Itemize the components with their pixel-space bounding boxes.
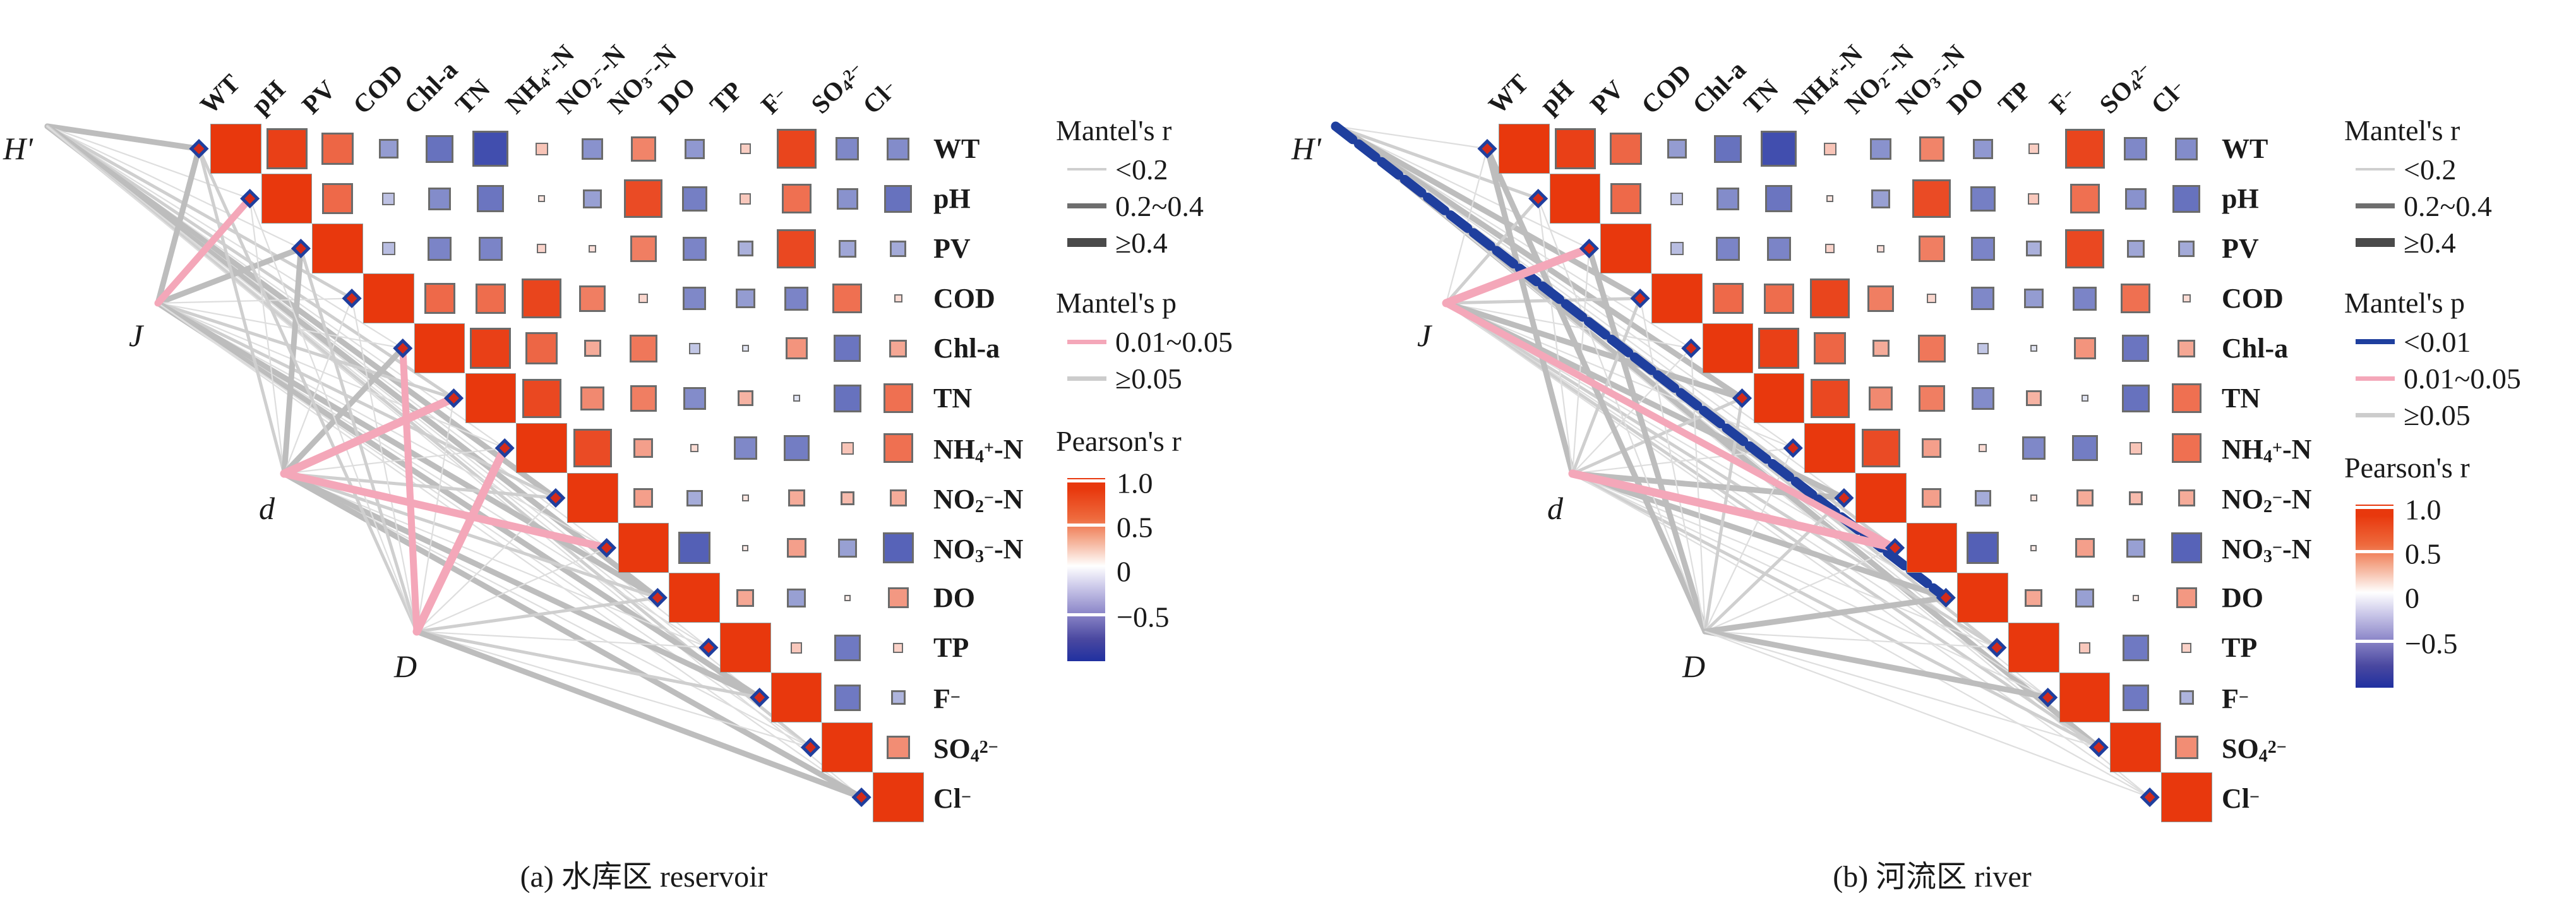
matrix-cell-WT-NH4+-N[interactable] bbox=[516, 124, 567, 174]
matrix-cell-F--F-[interactable] bbox=[2059, 673, 2111, 722]
matrix-cell-NO2--N-DO[interactable] bbox=[1957, 473, 2008, 523]
cell-glyph bbox=[2073, 287, 2097, 311]
cell-glyph bbox=[1977, 343, 1989, 354]
matrix-cell-DO-Cl-[interactable] bbox=[873, 573, 924, 623]
matrix-cell-TN-TN[interactable] bbox=[1754, 373, 1805, 423]
matrix-cell-PV-TN[interactable] bbox=[1754, 224, 1805, 273]
matrix-cell-Chl-a-F-[interactable] bbox=[2059, 323, 2111, 373]
variable-anchor-WT[interactable] bbox=[1477, 139, 1497, 159]
cell-glyph bbox=[2110, 722, 2161, 772]
matrix-cell-COD-Chl-a[interactable] bbox=[414, 273, 465, 323]
matrix-cell-NO3--N-F-[interactable] bbox=[2059, 523, 2111, 573]
matrix-cell-WT-WT[interactable] bbox=[1499, 124, 1550, 174]
line-swatch-gray bbox=[1067, 376, 1106, 381]
matrix-cell-COD-TP[interactable] bbox=[2008, 273, 2059, 323]
matrix-cell-TP-F-[interactable] bbox=[2059, 623, 2111, 673]
matrix-cell-pH-Cl-[interactable] bbox=[873, 174, 924, 224]
matrix-cell-NO3--N-SO42-[interactable] bbox=[2110, 523, 2161, 573]
network-node-label-evenness: J bbox=[1417, 317, 1431, 354]
matrix-cell-PV-NO3--N[interactable] bbox=[1907, 224, 1958, 273]
cell-glyph bbox=[1918, 335, 1946, 362]
matrix-cell-WT-TP[interactable] bbox=[2008, 124, 2059, 174]
matrix-cell-pH-PV[interactable] bbox=[1600, 174, 1651, 224]
matrix-cell-pH-COD[interactable] bbox=[1651, 174, 1703, 224]
matrix-cell-COD-NH4+-N[interactable] bbox=[516, 273, 567, 323]
cell-glyph bbox=[624, 179, 662, 218]
matrix-cell-SO42--SO42-[interactable] bbox=[822, 722, 873, 772]
caption-a: (a) 水库区 reservoir bbox=[0, 851, 1288, 895]
cell-glyph bbox=[2026, 241, 2042, 256]
matrix-cell-COD-Chl-a[interactable] bbox=[1703, 273, 1754, 323]
row-label-DO: DO bbox=[2222, 573, 2263, 623]
matrix-row bbox=[1499, 523, 2212, 573]
matrix-cell-COD-TN[interactable] bbox=[1754, 273, 1805, 323]
matrix-cell-pH-Cl-[interactable] bbox=[2161, 174, 2212, 224]
matrix-cell-NO3--N-TP[interactable] bbox=[720, 523, 771, 573]
cell-glyph bbox=[579, 285, 606, 312]
matrix-cell-PV-SO42-[interactable] bbox=[822, 224, 873, 273]
row-label-SO42-: SO42− bbox=[2222, 722, 2287, 772]
correlation-matrix-a bbox=[210, 124, 924, 822]
matrix-cell-PV-PV[interactable] bbox=[1600, 224, 1651, 273]
cell-glyph bbox=[822, 722, 873, 772]
mantel-p-title-a: Mantel's p bbox=[1056, 286, 1290, 320]
matrix-cell-TN-SO42-[interactable] bbox=[822, 373, 873, 423]
matrix-cell-PV-PV[interactable] bbox=[312, 224, 363, 273]
matrix-cell-PV-DO[interactable] bbox=[1957, 224, 2008, 273]
matrix-cell-TN-F-[interactable] bbox=[2059, 373, 2111, 423]
matrix-cell-Chl-a-Cl-[interactable] bbox=[873, 323, 924, 373]
matrix-cell-DO-TP[interactable] bbox=[720, 573, 771, 623]
matrix-cell-DO-F-[interactable] bbox=[2059, 573, 2111, 623]
matrix-cell-pH-NH4+-N[interactable] bbox=[1804, 174, 1855, 224]
matrix-cell-SO42--Cl-[interactable] bbox=[2161, 722, 2212, 772]
matrix-cell-WT-NO3--N[interactable] bbox=[618, 124, 669, 174]
matrix-cell-PV-Cl-[interactable] bbox=[873, 224, 924, 273]
matrix-cell-pH-DO[interactable] bbox=[669, 174, 720, 224]
mantel-p-legend-b: Mantel's p <0.01 0.01~0.05 ≥0.05 bbox=[2344, 286, 2576, 433]
matrix-cell-pH-F-[interactable] bbox=[771, 174, 822, 224]
matrix-cell-SO42--SO42-[interactable] bbox=[2110, 722, 2161, 772]
matrix-cell-TN-Cl-[interactable] bbox=[2161, 373, 2212, 423]
matrix-cell-pH-TP[interactable] bbox=[2008, 174, 2059, 224]
matrix-cell-WT-PV[interactable] bbox=[312, 124, 363, 174]
matrix-cell-COD-NO2--N[interactable] bbox=[1855, 273, 1907, 323]
cell-glyph bbox=[682, 186, 707, 212]
matrix-cell-NO2--N-DO[interactable] bbox=[669, 473, 720, 523]
mantel-r-item-0: <0.2 bbox=[2344, 151, 2576, 188]
matrix-cell-NH4+-N-NO3--N[interactable] bbox=[1907, 423, 1958, 473]
legend-a: Mantel's r <0.2 0.2~0.4 ≥0.4 Mantel's p … bbox=[1056, 114, 1290, 670]
matrix-cell-WT-pH[interactable] bbox=[261, 124, 313, 174]
matrix-cell-NO3--N-DO[interactable] bbox=[669, 523, 720, 573]
matrix-cell-PV-TP[interactable] bbox=[2008, 224, 2059, 273]
cell-glyph bbox=[1600, 224, 1651, 273]
matrix-cell-NO2--N-SO42-[interactable] bbox=[822, 473, 873, 523]
matrix-cell-COD-F-[interactable] bbox=[771, 273, 822, 323]
matrix-cell-PV-Chl-a[interactable] bbox=[1703, 224, 1754, 273]
matrix-cell-Chl-a-DO[interactable] bbox=[669, 323, 720, 373]
matrix-cell-NO2--N-Cl-[interactable] bbox=[873, 473, 924, 523]
matrix-cell-DO-SO42-[interactable] bbox=[822, 573, 873, 623]
cell-glyph bbox=[1716, 188, 1739, 210]
matrix-row bbox=[210, 423, 924, 473]
matrix-cell-NH4+-N-DO[interactable] bbox=[669, 423, 720, 473]
matrix-cell-DO-DO[interactable] bbox=[669, 573, 720, 623]
column-header-F-: F− bbox=[755, 81, 794, 120]
variable-anchor-WT[interactable] bbox=[189, 139, 208, 159]
figure-root: H'JdD WTpHPVCODChl-aTNNH4+-NNO2−-NNO3−-N… bbox=[0, 0, 2576, 910]
row-label-NO2--N: NO2−-N bbox=[933, 473, 1023, 523]
matrix-cell-COD-NO3--N[interactable] bbox=[1907, 273, 1958, 323]
matrix-cell-PV-TN[interactable] bbox=[465, 224, 517, 273]
cell-glyph bbox=[836, 137, 859, 160]
matrix-cell-NH4+-N-Cl-[interactable] bbox=[2161, 423, 2212, 473]
cell-glyph bbox=[638, 294, 648, 303]
matrix-cell-PV-DO[interactable] bbox=[669, 224, 720, 273]
matrix-cell-pH-TP[interactable] bbox=[720, 174, 771, 224]
column-header-TP: TP bbox=[704, 75, 748, 120]
matrix-cell-TP-Cl-[interactable] bbox=[873, 623, 924, 673]
matrix-cell-PV-TP[interactable] bbox=[720, 224, 771, 273]
matrix-cell-Chl-a-TP[interactable] bbox=[2008, 323, 2059, 373]
matrix-cell-NH4+-N-NH4+-N[interactable] bbox=[516, 423, 567, 473]
matrix-cell-Chl-a-NO3--N[interactable] bbox=[1907, 323, 1958, 373]
matrix-cell-COD-Cl-[interactable] bbox=[873, 273, 924, 323]
matrix-cell-pH-SO42-[interactable] bbox=[2110, 174, 2161, 224]
cell-glyph bbox=[2127, 240, 2145, 258]
matrix-cell-WT-F-[interactable] bbox=[2059, 124, 2111, 174]
matrix-cell-TN-NH4+-N[interactable] bbox=[1804, 373, 1855, 423]
matrix-cell-Cl--Cl-[interactable] bbox=[873, 772, 924, 822]
matrix-cell-PV-COD[interactable] bbox=[1651, 224, 1703, 273]
matrix-cell-NO2--N-NO2--N[interactable] bbox=[1855, 473, 1907, 523]
matrix-cell-F--Cl-[interactable] bbox=[873, 673, 924, 722]
matrix-cell-COD-SO42-[interactable] bbox=[822, 273, 873, 323]
cell-glyph bbox=[210, 124, 261, 174]
matrix-cell-SO42--Cl-[interactable] bbox=[873, 722, 924, 772]
matrix-cell-F--SO42-[interactable] bbox=[822, 673, 873, 722]
cell-glyph bbox=[1922, 438, 1941, 458]
matrix-cell-WT-Chl-a[interactable] bbox=[1703, 124, 1754, 174]
matrix-cell-pH-PV[interactable] bbox=[312, 174, 363, 224]
matrix-cell-pH-DO[interactable] bbox=[1957, 174, 2008, 224]
column-headers-b: WTpHPVCODChl-aTNNH4+-NNO2−-NNO3−-NDOTPF−… bbox=[1499, 0, 2256, 124]
matrix-cell-COD-NH4+-N[interactable] bbox=[1804, 273, 1855, 323]
matrix-cell-Chl-a-NO2--N[interactable] bbox=[1855, 323, 1907, 373]
cell-glyph bbox=[771, 673, 822, 722]
matrix-cell-WT-F-[interactable] bbox=[771, 124, 822, 174]
matrix-cell-NO2--N-SO42-[interactable] bbox=[2110, 473, 2161, 523]
cb-tick-3: −0.5 bbox=[2405, 627, 2457, 661]
matrix-cell-pH-pH[interactable] bbox=[261, 174, 313, 224]
matrix-cell-Chl-a-TP[interactable] bbox=[720, 323, 771, 373]
matrix-cell-pH-Chl-a[interactable] bbox=[1703, 174, 1754, 224]
matrix-cell-WT-pH[interactable] bbox=[1550, 124, 1601, 174]
matrix-cell-TP-SO42-[interactable] bbox=[2110, 623, 2161, 673]
matrix-cell-COD-DO[interactable] bbox=[1957, 273, 2008, 323]
matrix-cell-TN-DO[interactable] bbox=[669, 373, 720, 423]
matrix-cell-pH-COD[interactable] bbox=[363, 174, 414, 224]
cell-glyph bbox=[678, 532, 710, 564]
matrix-cell-NO3--N-F-[interactable] bbox=[771, 523, 822, 573]
matrix-cell-Chl-a-NO3--N[interactable] bbox=[618, 323, 669, 373]
matrix-cell-NH4+-N-TP[interactable] bbox=[720, 423, 771, 473]
row-label-Cl-: Cl− bbox=[2222, 772, 2260, 822]
matrix-cell-pH-Chl-a[interactable] bbox=[414, 174, 465, 224]
matrix-cell-COD-NO2--N[interactable] bbox=[567, 273, 618, 323]
matrix-cell-pH-NO2--N[interactable] bbox=[567, 174, 618, 224]
matrix-cell-PV-NO2--N[interactable] bbox=[1855, 224, 1907, 273]
cell-glyph bbox=[888, 587, 909, 608]
matrix-cell-NH4+-N-F-[interactable] bbox=[2059, 423, 2111, 473]
cell-glyph bbox=[476, 284, 506, 314]
matrix-cell-pH-NO3--N[interactable] bbox=[1907, 174, 1958, 224]
cell-glyph bbox=[1811, 379, 1850, 418]
matrix-cell-TN-NH4+-N[interactable] bbox=[516, 373, 567, 423]
matrix-cell-TP-Cl-[interactable] bbox=[2161, 623, 2212, 673]
matrix-cell-WT-NO3--N[interactable] bbox=[1907, 124, 1958, 174]
matrix-cell-Chl-a-NH4+-N[interactable] bbox=[516, 323, 567, 373]
network-node-label-shannon-diversity: H' bbox=[1291, 130, 1321, 167]
matrix-cell-WT-TP[interactable] bbox=[720, 124, 771, 174]
row-label-NH4+-N: NH4+-N bbox=[933, 423, 1023, 473]
cell-glyph bbox=[1862, 429, 1900, 467]
cell-glyph bbox=[689, 343, 700, 354]
matrix-cell-TN-Cl-[interactable] bbox=[873, 373, 924, 423]
matrix-cell-Chl-a-Chl-a[interactable] bbox=[414, 323, 465, 373]
matrix-cell-DO-TP[interactable] bbox=[2008, 573, 2059, 623]
cell-glyph bbox=[1919, 136, 1944, 162]
matrix-cell-NO3--N-Cl-[interactable] bbox=[873, 523, 924, 573]
matrix-cell-NH4+-N-SO42-[interactable] bbox=[2110, 423, 2161, 473]
cell-glyph bbox=[379, 139, 398, 159]
matrix-cell-Chl-a-F-[interactable] bbox=[771, 323, 822, 373]
matrix-cell-COD-COD[interactable] bbox=[1651, 273, 1703, 323]
matrix-cell-COD-TP[interactable] bbox=[720, 273, 771, 323]
cell-glyph bbox=[894, 294, 902, 302]
cell-glyph bbox=[683, 287, 706, 310]
column-header-SO42-: SO42− bbox=[805, 55, 870, 120]
matrix-cell-pH-SO42-[interactable] bbox=[822, 174, 873, 224]
matrix-cell-PV-SO42-[interactable] bbox=[2110, 224, 2161, 273]
matrix-cell-PV-NO2--N[interactable] bbox=[567, 224, 618, 273]
cell-glyph bbox=[479, 237, 503, 261]
mantel-r-item-2: ≥0.4 bbox=[1056, 224, 1290, 261]
matrix-cell-NO2--N-TP[interactable] bbox=[2008, 473, 2059, 523]
matrix-cell-Chl-a-TN[interactable] bbox=[1754, 323, 1805, 373]
matrix-cell-WT-COD[interactable] bbox=[1651, 124, 1703, 174]
matrix-cell-NH4+-N-NH4+-N[interactable] bbox=[1804, 423, 1855, 473]
matrix-cell-TN-TP[interactable] bbox=[2008, 373, 2059, 423]
network-node-label-shannon-diversity: H' bbox=[3, 130, 33, 167]
matrix-cell-TN-DO[interactable] bbox=[1957, 373, 2008, 423]
matrix-cell-COD-SO42-[interactable] bbox=[2110, 273, 2161, 323]
matrix-cell-TP-SO42-[interactable] bbox=[822, 623, 873, 673]
matrix-cell-NH4+-N-Cl-[interactable] bbox=[873, 423, 924, 473]
matrix-cell-NO3--N-NO3--N[interactable] bbox=[1907, 523, 1958, 573]
row-label-SO42-: SO42− bbox=[933, 722, 998, 772]
matrix-cell-COD-NO3--N[interactable] bbox=[618, 273, 669, 323]
matrix-cell-COD-F-[interactable] bbox=[2059, 273, 2111, 323]
matrix-cell-NH4+-N-F-[interactable] bbox=[771, 423, 822, 473]
cell-glyph bbox=[2179, 690, 2194, 705]
line-swatch-med bbox=[1067, 203, 1106, 208]
matrix-cell-F--Cl-[interactable] bbox=[2161, 673, 2212, 722]
matrix-cell-TN-NO3--N[interactable] bbox=[618, 373, 669, 423]
cell-glyph bbox=[844, 595, 851, 601]
cb-tick-0: 1.0 bbox=[1117, 467, 1153, 500]
matrix-cell-Chl-a-SO42-[interactable] bbox=[2110, 323, 2161, 373]
matrix-cell-NH4+-N-TP[interactable] bbox=[2008, 423, 2059, 473]
cell-glyph bbox=[683, 237, 707, 261]
cell-glyph bbox=[2124, 137, 2147, 160]
matrix-cell-COD-COD[interactable] bbox=[363, 273, 414, 323]
matrix-cell-WT-PV[interactable] bbox=[1600, 124, 1651, 174]
matrix-cell-Chl-a-Chl-a[interactable] bbox=[1703, 323, 1754, 373]
matrix-cell-PV-NO3--N[interactable] bbox=[618, 224, 669, 273]
matrix-cell-NO3--N-Cl-[interactable] bbox=[2161, 523, 2212, 573]
matrix-cell-Chl-a-NO2--N[interactable] bbox=[567, 323, 618, 373]
matrix-cell-PV-NH4+-N[interactable] bbox=[1804, 224, 1855, 273]
matrix-cell-TN-NO2--N[interactable] bbox=[1855, 373, 1907, 423]
cell-glyph bbox=[884, 185, 912, 213]
matrix-cell-PV-F-[interactable] bbox=[2059, 224, 2111, 273]
pearson-title-a: Pearson's r bbox=[1056, 424, 1290, 458]
matrix-cell-TN-NO2--N[interactable] bbox=[567, 373, 618, 423]
matrix-cell-COD-TN[interactable] bbox=[465, 273, 517, 323]
cell-glyph bbox=[2030, 545, 2037, 551]
matrix-cell-WT-DO[interactable] bbox=[1957, 124, 2008, 174]
matrix-cell-NO2--N-TP[interactable] bbox=[720, 473, 771, 523]
matrix-cell-NO2--N-Cl-[interactable] bbox=[2161, 473, 2212, 523]
matrix-cell-TP-TP[interactable] bbox=[2008, 623, 2059, 673]
matrix-cell-NH4+-N-NO2--N[interactable] bbox=[1855, 423, 1907, 473]
cell-glyph bbox=[580, 386, 604, 410]
column-headers-a: WTpHPVCODChl-aTNNH4+-NNO2−-NNO3−-NDOTPF−… bbox=[210, 0, 968, 124]
matrix-cell-DO-F-[interactable] bbox=[771, 573, 822, 623]
cell-glyph bbox=[2178, 340, 2195, 357]
matrix-cell-WT-TN[interactable] bbox=[465, 124, 517, 174]
cell-glyph bbox=[742, 345, 749, 352]
matrix-cell-NH4+-N-NO3--N[interactable] bbox=[618, 423, 669, 473]
matrix-cell-NH4+-N-SO42-[interactable] bbox=[822, 423, 873, 473]
matrix-cell-NO2--N-NO3--N[interactable] bbox=[618, 473, 669, 523]
matrix-cell-WT-Chl-a[interactable] bbox=[414, 124, 465, 174]
matrix-cell-COD-DO[interactable] bbox=[669, 273, 720, 323]
row-label-F-: F− bbox=[2222, 673, 2249, 722]
matrix-cell-NO3--N-TP[interactable] bbox=[2008, 523, 2059, 573]
matrix-cell-pH-NH4+-N[interactable] bbox=[516, 174, 567, 224]
matrix-cell-PV-Cl-[interactable] bbox=[2161, 224, 2212, 273]
column-header-PV: PV bbox=[1584, 74, 1630, 120]
row-label-NH4+-N: NH4+-N bbox=[2222, 423, 2311, 473]
matrix-cell-NO2--N-NO2--N[interactable] bbox=[567, 473, 618, 523]
matrix-cell-WT-DO[interactable] bbox=[669, 124, 720, 174]
matrix-row bbox=[1499, 423, 2212, 473]
matrix-cell-WT-WT[interactable] bbox=[210, 124, 261, 174]
matrix-cell-TN-NO3--N[interactable] bbox=[1907, 373, 1958, 423]
matrix-cell-Chl-a-TN[interactable] bbox=[465, 323, 517, 373]
matrix-cell-NH4+-N-NO2--N[interactable] bbox=[567, 423, 618, 473]
matrix-cell-F--SO42-[interactable] bbox=[2110, 673, 2161, 722]
matrix-cell-WT-NO2--N[interactable] bbox=[1855, 124, 1907, 174]
matrix-cell-pH-TN[interactable] bbox=[465, 174, 517, 224]
matrix-cell-COD-Cl-[interactable] bbox=[2161, 273, 2212, 323]
matrix-cell-Chl-a-Cl-[interactable] bbox=[2161, 323, 2212, 373]
matrix-cell-DO-Cl-[interactable] bbox=[2161, 573, 2212, 623]
matrix-cell-WT-SO42-[interactable] bbox=[2110, 124, 2161, 174]
mantel-p-item-1: 0.01~0.05 bbox=[2344, 360, 2576, 397]
matrix-cell-WT-COD[interactable] bbox=[363, 124, 414, 174]
matrix-cell-pH-pH[interactable] bbox=[1550, 174, 1601, 224]
cell-glyph bbox=[720, 623, 771, 673]
matrix-cell-TP-F-[interactable] bbox=[771, 623, 822, 673]
matrix-cell-NO2--N-F-[interactable] bbox=[2059, 473, 2111, 523]
matrix-cell-TN-TN[interactable] bbox=[465, 373, 517, 423]
matrix-cell-WT-Cl-[interactable] bbox=[2161, 124, 2212, 174]
matrix-cell-NO3--N-NO3--N[interactable] bbox=[618, 523, 669, 573]
cell-glyph bbox=[2026, 390, 2042, 406]
matrix-cell-pH-NO2--N[interactable] bbox=[1855, 174, 1907, 224]
matrix-cell-WT-Cl-[interactable] bbox=[873, 124, 924, 174]
matrix-cell-pH-NO3--N[interactable] bbox=[618, 174, 669, 224]
matrix-cell-pH-TN[interactable] bbox=[1754, 174, 1805, 224]
cell-glyph bbox=[837, 188, 858, 210]
matrix-cell-DO-DO[interactable] bbox=[1957, 573, 2008, 623]
matrix-cell-NO2--N-F-[interactable] bbox=[771, 473, 822, 523]
matrix-cell-TN-TP[interactable] bbox=[720, 373, 771, 423]
matrix-cell-TP-TP[interactable] bbox=[720, 623, 771, 673]
matrix-cell-TN-SO42-[interactable] bbox=[2110, 373, 2161, 423]
matrix-cell-PV-COD[interactable] bbox=[363, 224, 414, 273]
cell-glyph bbox=[736, 589, 754, 607]
cell-glyph bbox=[2082, 395, 2088, 402]
matrix-cell-NO2--N-NO3--N[interactable] bbox=[1907, 473, 1958, 523]
matrix-cell-Cl--Cl-[interactable] bbox=[2161, 772, 2212, 822]
matrix-cell-WT-NO2--N[interactable] bbox=[567, 124, 618, 174]
row-label-NO2--N: NO2−-N bbox=[2222, 473, 2311, 523]
matrix-row bbox=[1499, 722, 2212, 772]
matrix-cell-Chl-a-SO42-[interactable] bbox=[822, 323, 873, 373]
cell-glyph bbox=[1971, 237, 1995, 261]
cell-glyph bbox=[2121, 284, 2150, 313]
cell-glyph bbox=[1555, 128, 1596, 169]
line-swatch-pink bbox=[1067, 340, 1106, 344]
matrix-cell-Chl-a-DO[interactable] bbox=[1957, 323, 2008, 373]
matrix-cell-PV-NH4+-N[interactable] bbox=[516, 224, 567, 273]
matrix-cell-WT-NH4+-N[interactable] bbox=[1804, 124, 1855, 174]
matrix-cell-Chl-a-NH4+-N[interactable] bbox=[1804, 323, 1855, 373]
matrix-cell-PV-Chl-a[interactable] bbox=[414, 224, 465, 273]
matrix-cell-NH4+-N-DO[interactable] bbox=[1957, 423, 2008, 473]
row-label-COD: COD bbox=[2222, 273, 2284, 323]
matrix-cell-F--F-[interactable] bbox=[771, 673, 822, 722]
matrix-cell-pH-F-[interactable] bbox=[2059, 174, 2111, 224]
matrix-cell-WT-SO42-[interactable] bbox=[822, 124, 873, 174]
row-label-PV: PV bbox=[2222, 224, 2259, 273]
matrix-cell-NO3--N-DO[interactable] bbox=[1957, 523, 2008, 573]
matrix-cell-DO-SO42-[interactable] bbox=[2110, 573, 2161, 623]
cell-glyph bbox=[522, 278, 561, 318]
matrix-cell-TN-F-[interactable] bbox=[771, 373, 822, 423]
cell-glyph bbox=[2175, 138, 2198, 160]
matrix-cell-NO3--N-SO42-[interactable] bbox=[822, 523, 873, 573]
cell-glyph bbox=[841, 491, 854, 505]
matrix-cell-PV-F-[interactable] bbox=[771, 224, 822, 273]
cell-glyph bbox=[1824, 143, 1836, 155]
matrix-cell-WT-TN[interactable] bbox=[1754, 124, 1805, 174]
